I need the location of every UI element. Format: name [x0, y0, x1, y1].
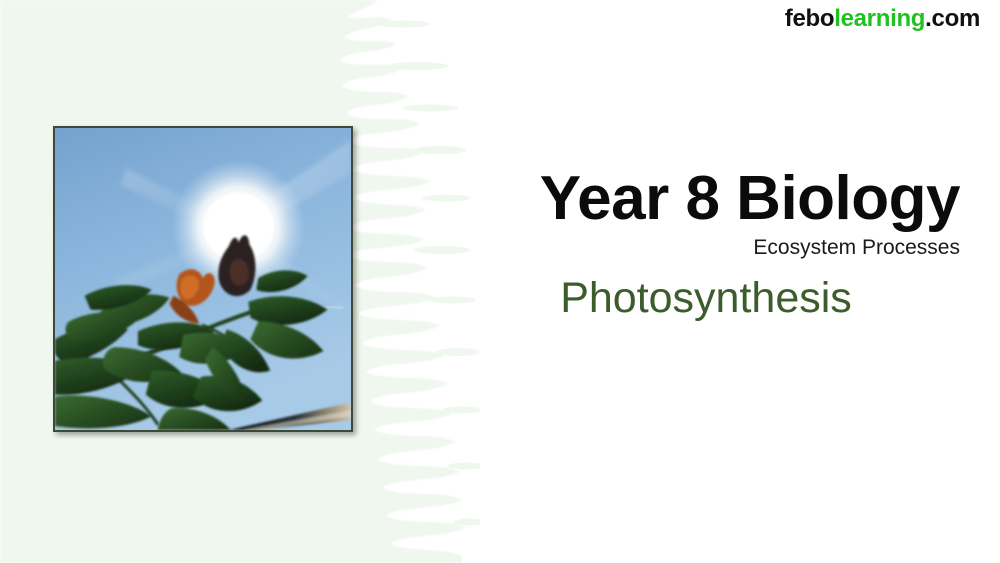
slide-canvas: febolearning.com [0, 0, 1000, 563]
page-title: Year 8 Biology [470, 168, 960, 230]
topic-row: Photosynthesis [470, 275, 960, 322]
lesson-topic: Photosynthesis [560, 275, 852, 322]
logo-segment-domain: .com [925, 5, 980, 32]
logo-segment-febo: febo [785, 5, 834, 32]
slide-text-block: Year 8 Biology Ecosystem Processes Photo… [470, 168, 960, 322]
logo-segment-learning: learning [834, 5, 925, 32]
site-logo[interactable]: febolearning.com [785, 7, 980, 31]
page-subtitle: Ecosystem Processes [470, 236, 960, 259]
lesson-photo [53, 126, 353, 432]
